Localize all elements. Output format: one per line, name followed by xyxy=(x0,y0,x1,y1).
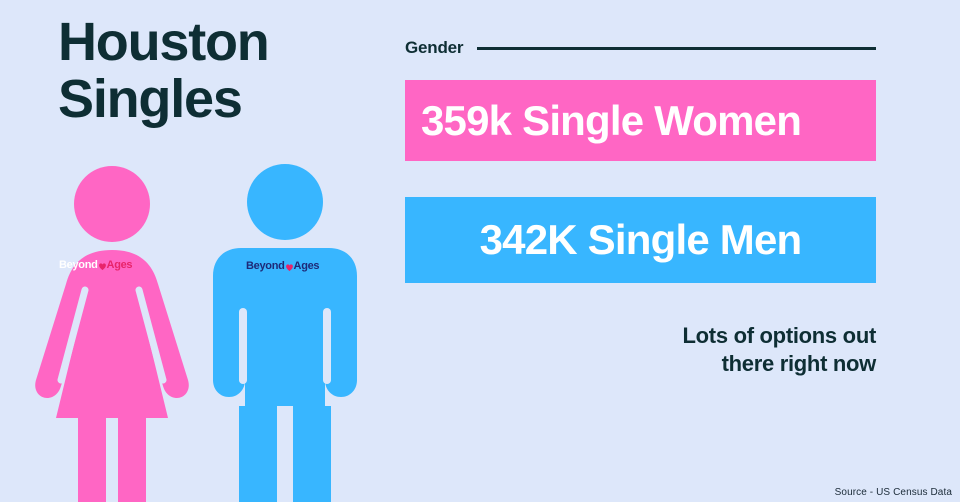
stat-bar-single-women: 359k Single Women xyxy=(405,80,876,161)
stat-bar-single-men-label: 342K Single Men xyxy=(480,216,802,264)
stat-bar-single-women-label: 359k Single Women xyxy=(421,97,801,145)
male-figure-icon xyxy=(205,162,365,502)
tagline-line-1: Lots of options out xyxy=(576,322,876,350)
page-title: Houston Singles xyxy=(58,14,388,127)
page-title-line-1: Houston xyxy=(58,14,388,71)
gender-section-header: Gender xyxy=(405,38,876,58)
infographic-canvas: Houston Singles Beyond Ages xyxy=(0,0,960,502)
header-divider-rule xyxy=(477,47,876,50)
stat-bar-single-men: 342K Single Men xyxy=(405,197,876,283)
tagline: Lots of options out there right now xyxy=(576,322,876,378)
source-attribution: Source - US Census Data xyxy=(835,487,952,498)
female-figure-icon xyxy=(28,166,196,502)
tagline-line-2: there right now xyxy=(576,350,876,378)
page-title-line-2: Singles xyxy=(58,71,388,128)
gender-label: Gender xyxy=(405,38,463,58)
